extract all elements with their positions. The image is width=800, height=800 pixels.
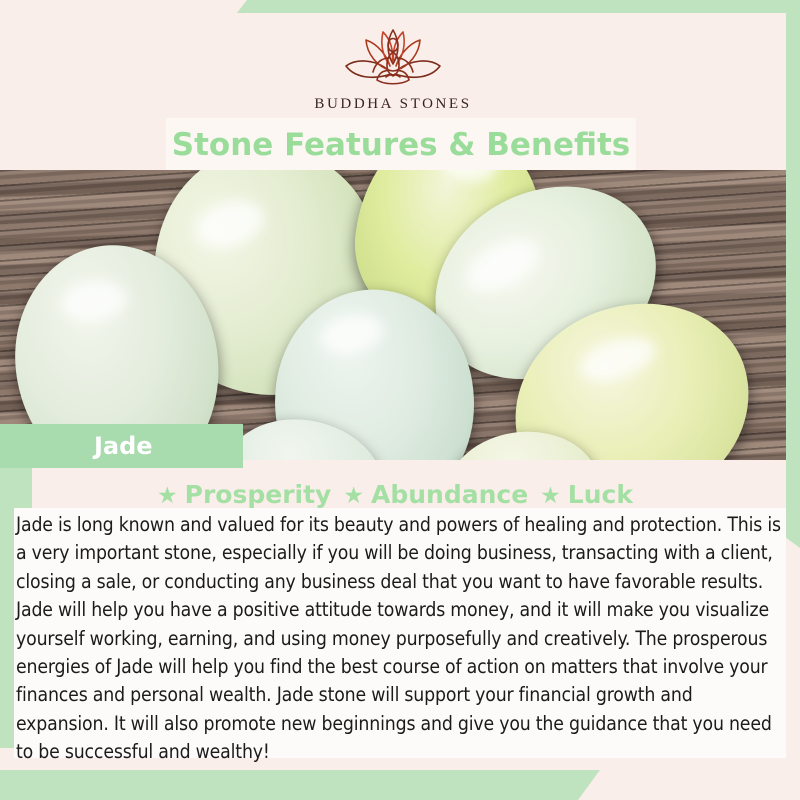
benefit-prosperity: Prosperity [185,480,332,509]
benefits-row: ★Prosperity★Abundance★Luck [0,480,786,509]
benefit-luck: Luck [568,480,633,509]
benefit-abundance: Abundance [371,480,528,509]
stone-name-text: Jade [94,432,153,460]
star-icon-2: ★ [343,483,364,509]
title-bar: Stone Features & Benefits [166,118,636,171]
stone-name-label: Jade [0,424,243,468]
description-text: Jade is long known and valued for its be… [16,511,784,767]
stone-photo [0,170,786,460]
brand-name: BUDDHA STONES [0,96,786,113]
infographic-page: BUDDHA STONES Stone Features & Benefits [0,0,800,800]
lotus-meditation-icon [333,22,453,94]
star-icon-3: ★ [540,483,561,509]
decorative-green-bottom-band [0,770,600,800]
star-icon-1: ★ [157,483,178,509]
page-title: Stone Features & Benefits [172,127,630,163]
brand-header: BUDDHA STONES [0,22,786,113]
